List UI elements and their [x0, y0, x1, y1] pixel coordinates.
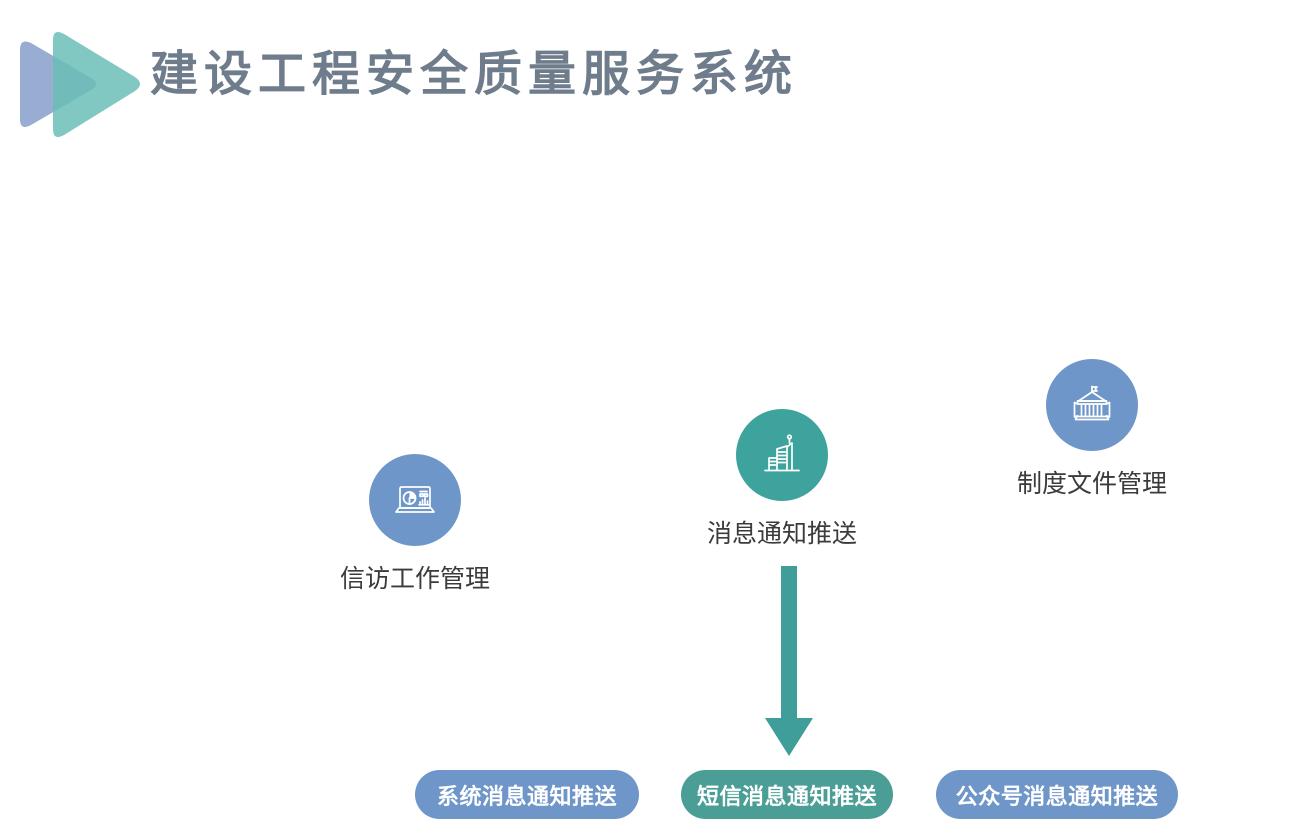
pill-label: 公众号消息通知推送 [956, 779, 1159, 811]
pill-label: 系统消息通知推送 [437, 779, 617, 811]
node-label-xiaoxi: 消息通知推送 [662, 517, 902, 551]
laptop-analytics-icon [369, 454, 461, 546]
slide-canvas: 建设工程安全质量服务系统 [0, 0, 1294, 831]
node-label-xinfang: 信访工作管理 [295, 562, 535, 596]
government-building-icon [1046, 359, 1138, 451]
pill-label: 短信消息通知推送 [697, 779, 877, 811]
node-label-zhidu: 制度文件管理 [972, 467, 1212, 501]
pill-official-account-message-push[interactable]: 公众号消息通知推送 [936, 770, 1178, 819]
node-xiaoxi[interactable]: 消息通知推送 [662, 409, 902, 551]
double-play-triangle-logo-icon [14, 26, 144, 144]
header: 建设工程安全质量服务系统 [0, 0, 1294, 170]
node-zhidu[interactable]: 制度文件管理 [972, 359, 1212, 501]
down-arrow-icon [760, 566, 818, 766]
city-buildings-icon [736, 409, 828, 501]
pill-system-message-push[interactable]: 系统消息通知推送 [415, 770, 639, 819]
pill-sms-message-push[interactable]: 短信消息通知推送 [681, 770, 893, 819]
page-title: 建设工程安全质量服务系统 [150, 44, 798, 106]
node-xinfang[interactable]: 信访工作管理 [295, 454, 535, 596]
